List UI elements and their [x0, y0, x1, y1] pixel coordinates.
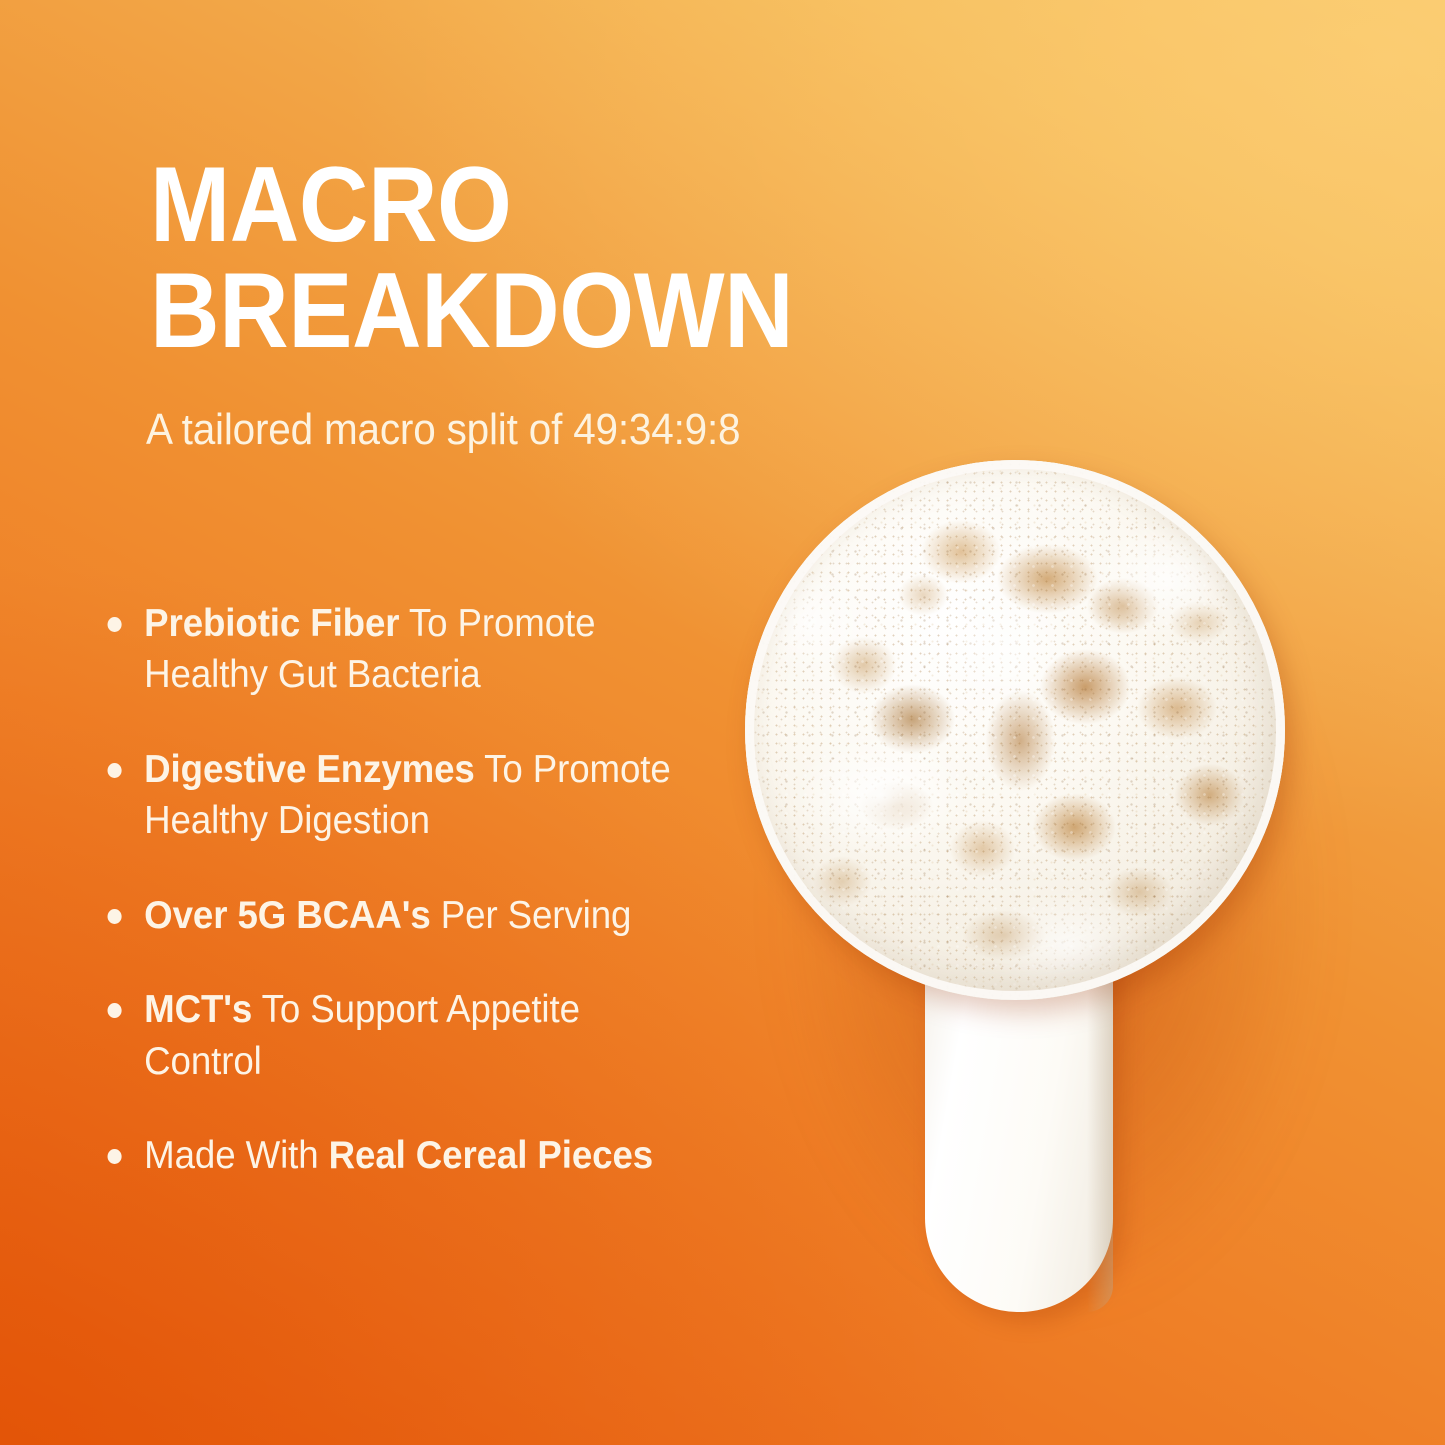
list-item: MCT's To Support Appetite Control: [100, 984, 683, 1087]
macro-breakdown-poster: MACRO BREAKDOWN A tailored macro split o…: [0, 0, 1445, 1445]
bullet-dot-icon: [108, 909, 122, 924]
protein-powder-scoop-image: [745, 460, 1301, 1320]
list-item-strong: Real Cereal Pieces: [329, 1134, 653, 1177]
bullet-dot-icon: [108, 1003, 122, 1018]
list-item-strong: MCT's: [144, 988, 252, 1031]
page-title: MACRO BREAKDOWN: [150, 152, 888, 364]
bullet-dot-icon: [108, 763, 122, 778]
bullet-dot-icon: [108, 617, 122, 632]
list-item-text: Per Serving: [431, 894, 632, 937]
scoop-rim: [745, 460, 1285, 1000]
list-item: Over 5G BCAA's Per Serving: [100, 890, 683, 941]
list-item-lead: Made With: [144, 1134, 328, 1177]
list-item-strong: Digestive Enzymes: [144, 748, 475, 791]
list-item: Digestive Enzymes To Promote Healthy Dig…: [100, 744, 683, 847]
list-item: Prebiotic Fiber To Promote Healthy Gut B…: [100, 598, 683, 701]
text-column: MACRO BREAKDOWN A tailored macro split o…: [0, 0, 760, 1445]
list-item: Made With Real Cereal Pieces: [100, 1130, 683, 1181]
scoop-bowl: [745, 460, 1285, 1000]
bullet-dot-icon: [108, 1149, 122, 1164]
feature-list: Prebiotic Fiber To Promote Healthy Gut B…: [100, 598, 720, 1182]
page-subtitle: A tailored macro split of 49:34:9:8: [146, 406, 740, 454]
list-item-strong: Over 5G BCAA's: [144, 894, 431, 937]
list-item-strong: Prebiotic Fiber: [144, 602, 399, 645]
